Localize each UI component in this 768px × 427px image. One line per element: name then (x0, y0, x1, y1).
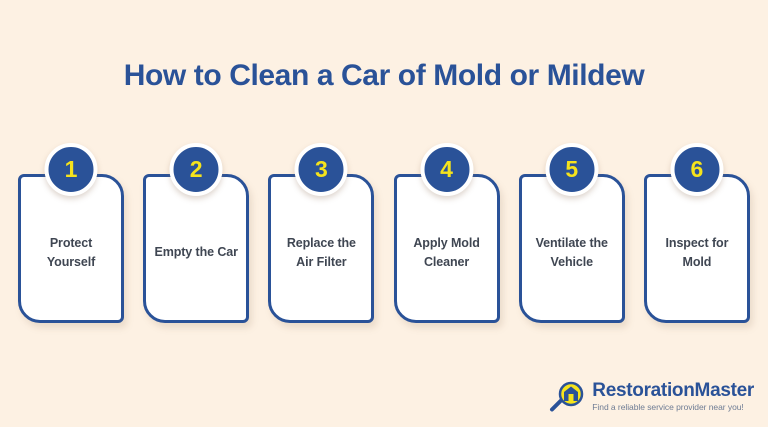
step-card: Replace the Air Filter (268, 174, 374, 323)
step-number-badge: 2 (170, 143, 223, 196)
step-number-badge: 4 (420, 143, 473, 196)
step-label: Replace the Air Filter (277, 234, 365, 270)
brand-logo: RestorationMaster Find a reliable servic… (549, 381, 754, 413)
step-number: 4 (440, 158, 453, 181)
page-title: How to Clean a Car of Mold or Mildew (0, 58, 768, 94)
logo-wordmark: RestorationMaster (592, 381, 754, 401)
step-number-badge: 3 (295, 143, 348, 196)
step-number: 3 (315, 158, 328, 181)
steps-row: Protect Yourself 1 Empty the Car 2 Repla… (18, 143, 750, 325)
step-label: Protect Yourself (27, 234, 115, 270)
logo-tagline: Find a reliable service provider near yo… (592, 402, 754, 412)
step-item: Inspect for Mold 6 (644, 143, 750, 325)
step-item: Replace the Air Filter 3 (268, 143, 374, 325)
step-label: Inspect for Mold (653, 234, 741, 270)
step-number-badge: 1 (45, 143, 98, 196)
step-item: Apply Mold Cleaner 4 (394, 143, 500, 325)
step-number: 6 (691, 158, 704, 181)
step-label: Apply Mold Cleaner (403, 234, 491, 270)
step-number: 1 (65, 158, 78, 181)
step-number-badge: 6 (670, 143, 723, 196)
step-card: Apply Mold Cleaner (394, 174, 500, 323)
step-number-badge: 5 (545, 143, 598, 196)
step-item: Protect Yourself 1 (18, 143, 124, 325)
step-number: 5 (565, 158, 578, 181)
logo-text-block: RestorationMaster Find a reliable servic… (592, 381, 754, 412)
step-item: Empty the Car 2 (143, 143, 249, 325)
step-label: Ventilate the Vehicle (528, 234, 616, 270)
step-card: Empty the Car (143, 174, 249, 323)
step-card: Protect Yourself (18, 174, 124, 323)
step-item: Ventilate the Vehicle 5 (519, 143, 625, 325)
step-number: 2 (190, 158, 203, 181)
step-card: Ventilate the Vehicle (519, 174, 625, 323)
step-card: Inspect for Mold (644, 174, 750, 323)
magnifying-glass-house-icon (549, 381, 585, 413)
step-label: Empty the Car (154, 243, 237, 261)
infographic-canvas: How to Clean a Car of Mold or Mildew Pro… (0, 0, 768, 427)
